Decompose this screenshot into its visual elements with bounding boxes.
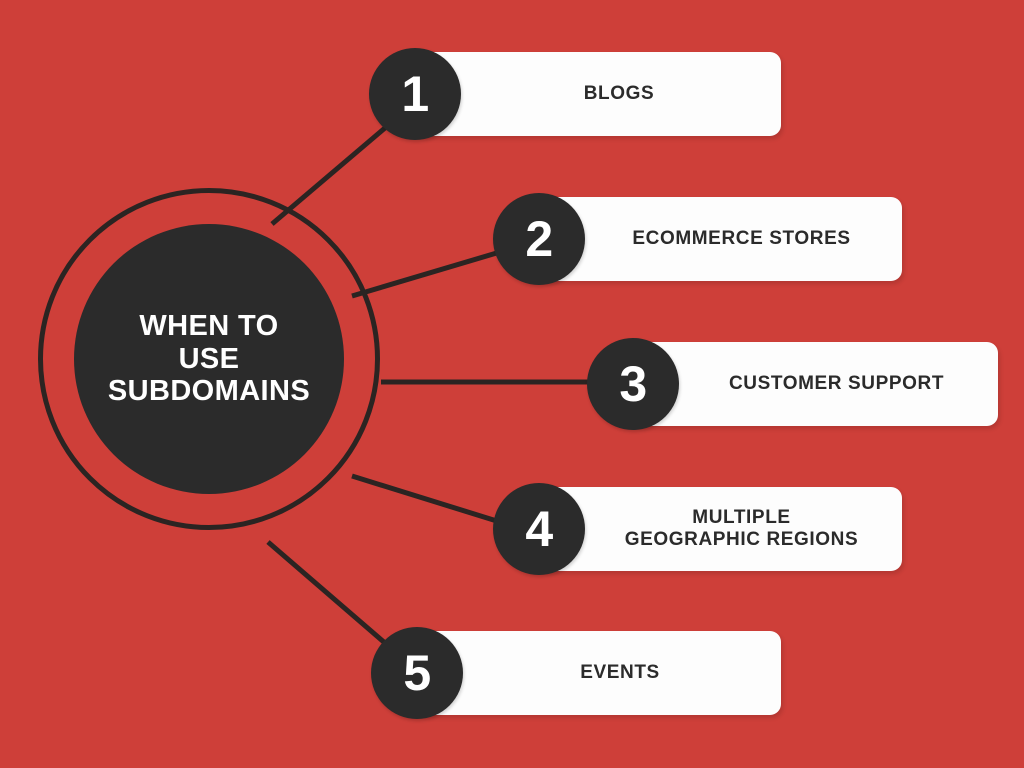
item-badge-2: 2 (493, 193, 585, 285)
item-card-2[interactable]: ECOMMERCE STORES (539, 197, 902, 281)
item-card-4[interactable]: MULTIPLE GEOGRAPHIC REGIONS (539, 487, 902, 571)
hub-core-circle: WHEN TO USE SUBDOMAINS (74, 224, 344, 494)
item-label-2: ECOMMERCE STORES (632, 228, 850, 250)
item-badge-1: 1 (369, 48, 461, 140)
item-number-2: 2 (525, 214, 552, 264)
item-number-5: 5 (403, 648, 430, 698)
item-card-1[interactable]: BLOGS (415, 52, 781, 136)
item-card-3[interactable]: CUSTOMER SUPPORT (633, 342, 998, 426)
infographic-canvas: WHEN TO USE SUBDOMAINS BLOGS 1 ECOMMERCE… (0, 0, 1024, 768)
item-card-5[interactable]: EVENTS (417, 631, 781, 715)
item-label-5: EVENTS (580, 662, 660, 684)
connector-line-5 (268, 542, 385, 643)
central-hub: WHEN TO USE SUBDOMAINS (38, 188, 380, 530)
item-number-3: 3 (619, 359, 646, 409)
item-badge-5: 5 (371, 627, 463, 719)
item-label-3: CUSTOMER SUPPORT (729, 373, 944, 395)
item-label-4: MULTIPLE GEOGRAPHIC REGIONS (625, 507, 859, 552)
item-badge-3: 3 (587, 338, 679, 430)
item-number-4: 4 (525, 504, 552, 554)
item-number-1: 1 (401, 69, 428, 119)
page-title: WHEN TO USE SUBDOMAINS (89, 310, 329, 407)
item-badge-4: 4 (493, 483, 585, 575)
item-label-1: BLOGS (584, 83, 655, 105)
